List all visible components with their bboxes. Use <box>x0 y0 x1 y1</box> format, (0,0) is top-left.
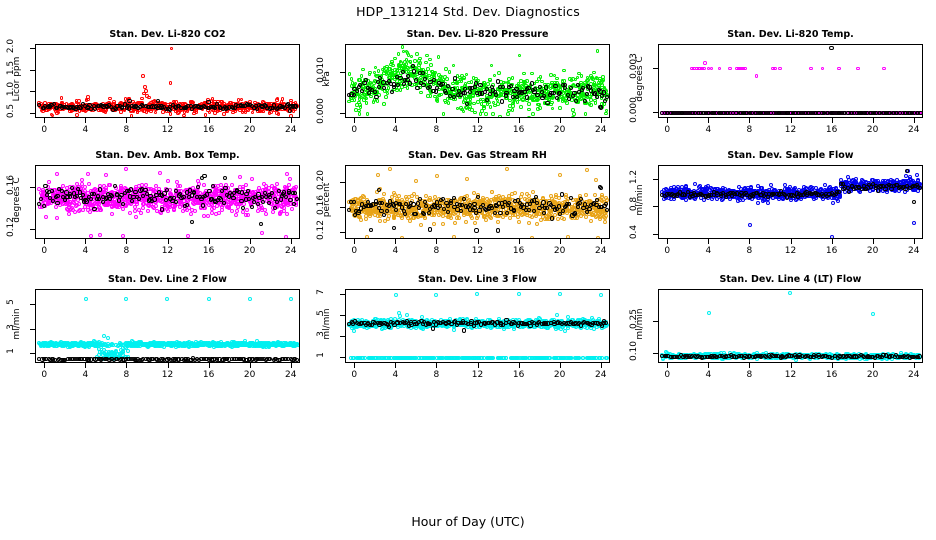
diagnostics-figure: HDP_131214 Std. Dev. Diagnostics Stan. D… <box>0 0 936 540</box>
